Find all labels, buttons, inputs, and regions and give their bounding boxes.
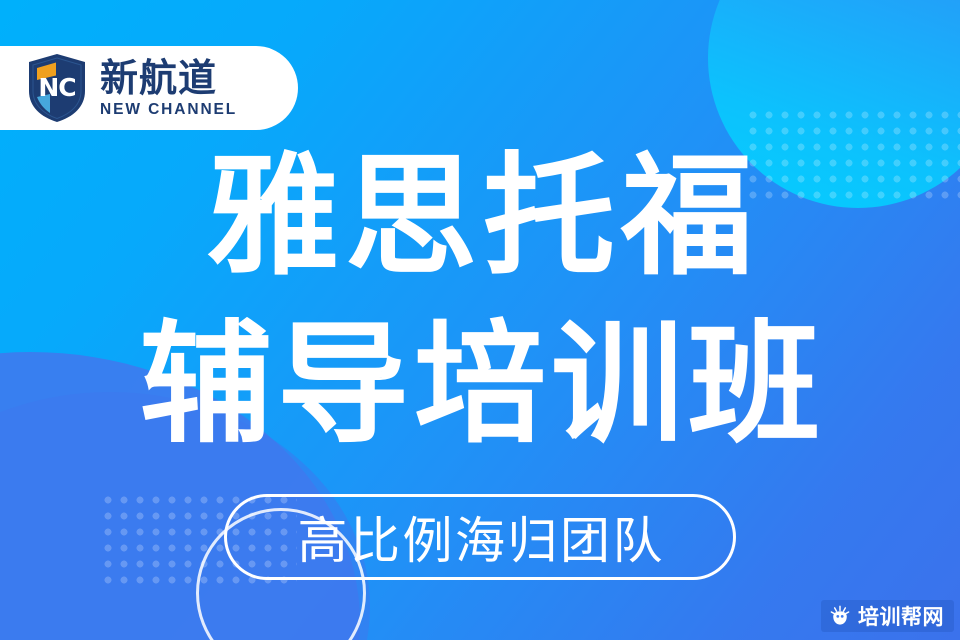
promo-banner: NC 新航道 NEW CHANNEL 雅思托福 辅导培训班 高比例海归团队 bbox=[0, 0, 960, 640]
shield-badge-icon: NC bbox=[26, 53, 88, 123]
brand-logo-plate: NC 新航道 NEW CHANNEL bbox=[0, 46, 298, 130]
headline-line-2: 辅导培训班 bbox=[0, 310, 960, 460]
headline-block: 雅思托福 辅导培训班 bbox=[0, 144, 960, 460]
sun-face-icon bbox=[829, 605, 851, 627]
svg-text:NC: NC bbox=[38, 73, 75, 102]
subtitle-text: 高比例海归团队 bbox=[295, 501, 665, 573]
watermark-text: 培训帮网 bbox=[858, 601, 944, 631]
site-watermark: 培训帮网 bbox=[821, 600, 954, 632]
headline-line-1: 雅思托福 bbox=[0, 144, 960, 290]
subtitle-pill: 高比例海归团队 bbox=[224, 494, 736, 580]
brand-name-cn: 新航道 bbox=[100, 59, 237, 97]
brand-wordmark: 新航道 NEW CHANNEL bbox=[100, 59, 237, 118]
brand-name-en: NEW CHANNEL bbox=[100, 102, 237, 118]
